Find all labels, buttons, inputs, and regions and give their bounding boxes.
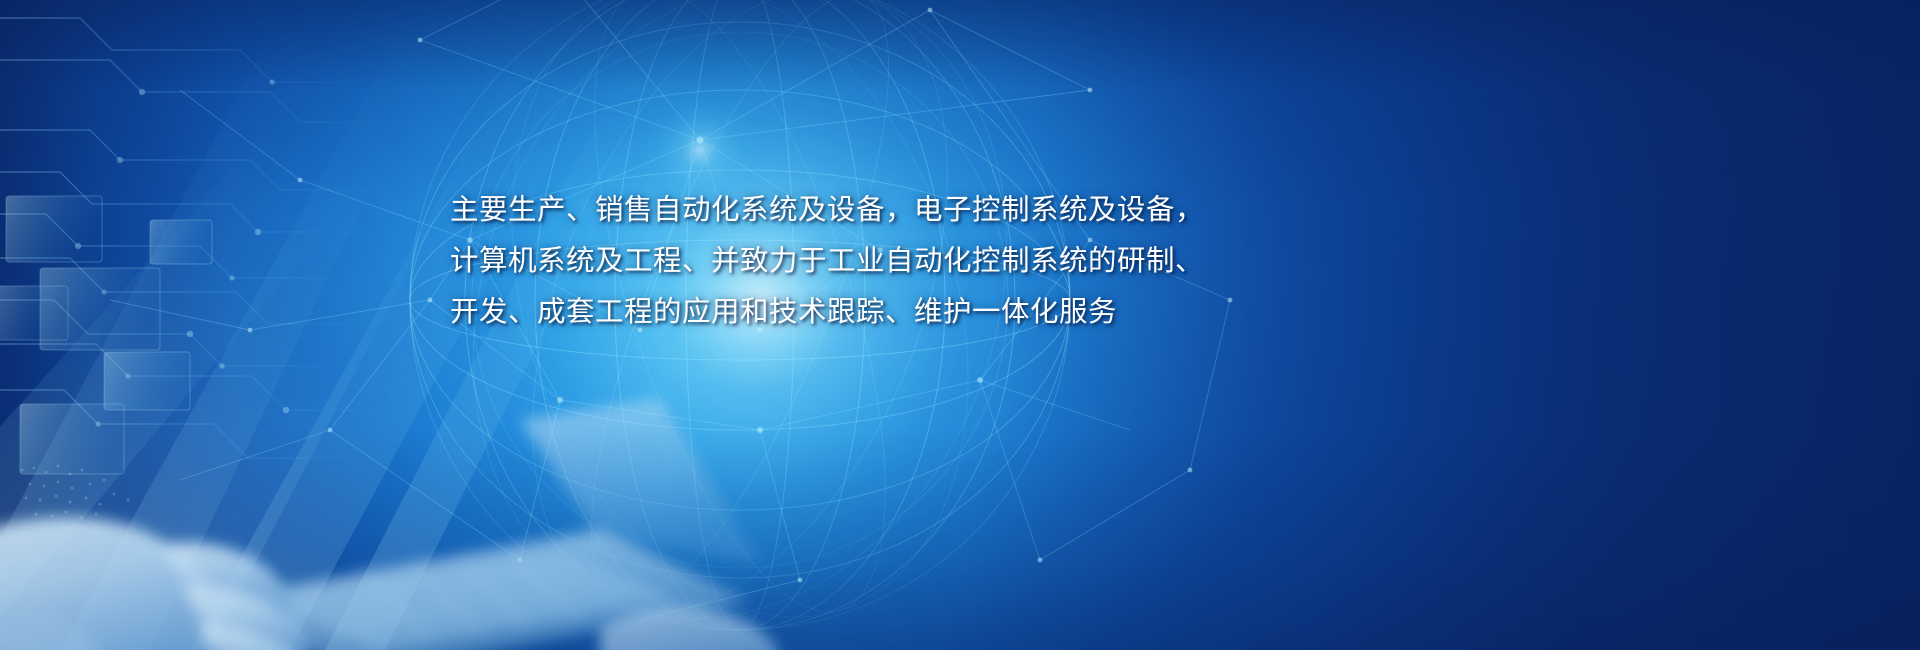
banner-copy-line-2: 计算机系统及工程、并致力于工业自动化控制系统的研制、 [450, 236, 1250, 287]
hand-on-laptop-photo [0, 300, 940, 650]
banner-copy-line-3: 开发、成套工程的应用和技术跟踪、维护一体化服务 [450, 287, 1250, 338]
hero-banner: WORLD [0, 0, 1920, 650]
banner-copy: 主要生产、销售自动化系统及设备，电子控制系统及设备， 计算机系统及工程、并致力于… [450, 185, 1250, 338]
banner-copy-line-1: 主要生产、销售自动化系统及设备，电子控制系统及设备， [450, 185, 1250, 236]
